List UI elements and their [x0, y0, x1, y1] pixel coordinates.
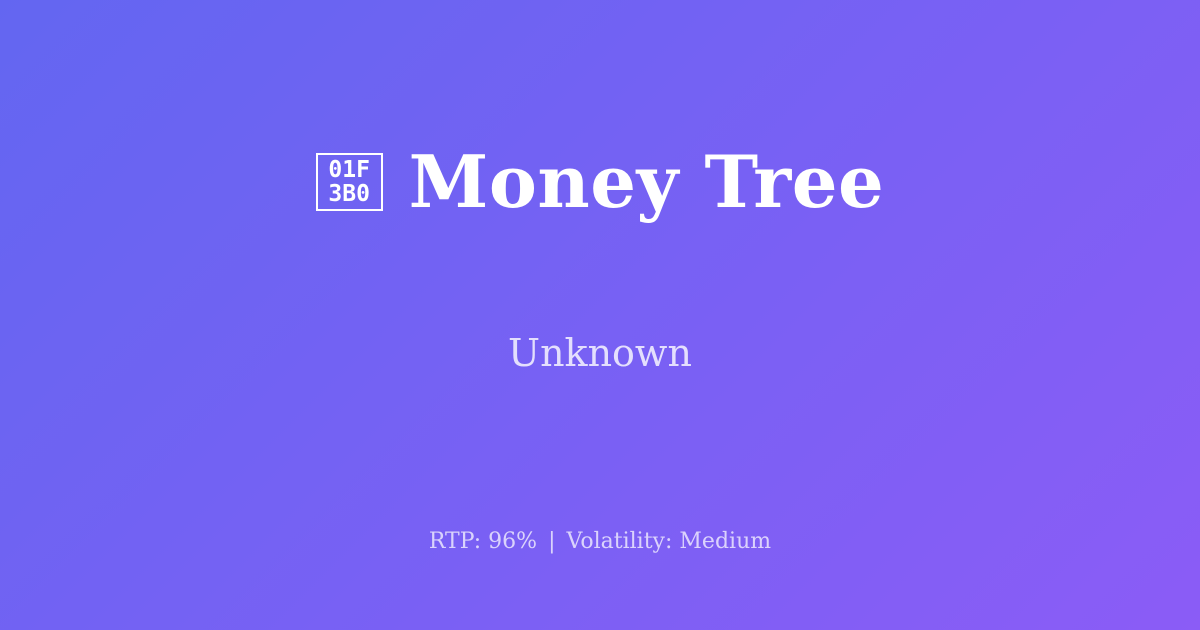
game-provider-subtitle: Unknown [508, 331, 692, 375]
meta-separator: | [544, 529, 559, 554]
rtp-value: 96% [488, 529, 537, 554]
page-title: Money Tree [409, 143, 885, 221]
game-og-card: 01F 3B0 Money Tree Unknown RTP: 96% | Vo… [0, 0, 1200, 630]
volatility-label: Volatility: [567, 529, 673, 554]
title-row: 01F 3B0 Money Tree [316, 95, 885, 269]
slot-machine-emoji-icon: 01F 3B0 [316, 153, 383, 211]
game-meta-footer: RTP: 96% | Volatility: Medium [0, 528, 1200, 556]
codepoint-bottom-line: 3B0 [328, 182, 370, 206]
volatility-value: Medium [679, 529, 771, 554]
codepoint-top-line: 01F [328, 158, 370, 182]
hero-section: 01F 3B0 Money Tree Unknown [0, 0, 1200, 470]
rtp-label: RTP: [429, 529, 481, 554]
